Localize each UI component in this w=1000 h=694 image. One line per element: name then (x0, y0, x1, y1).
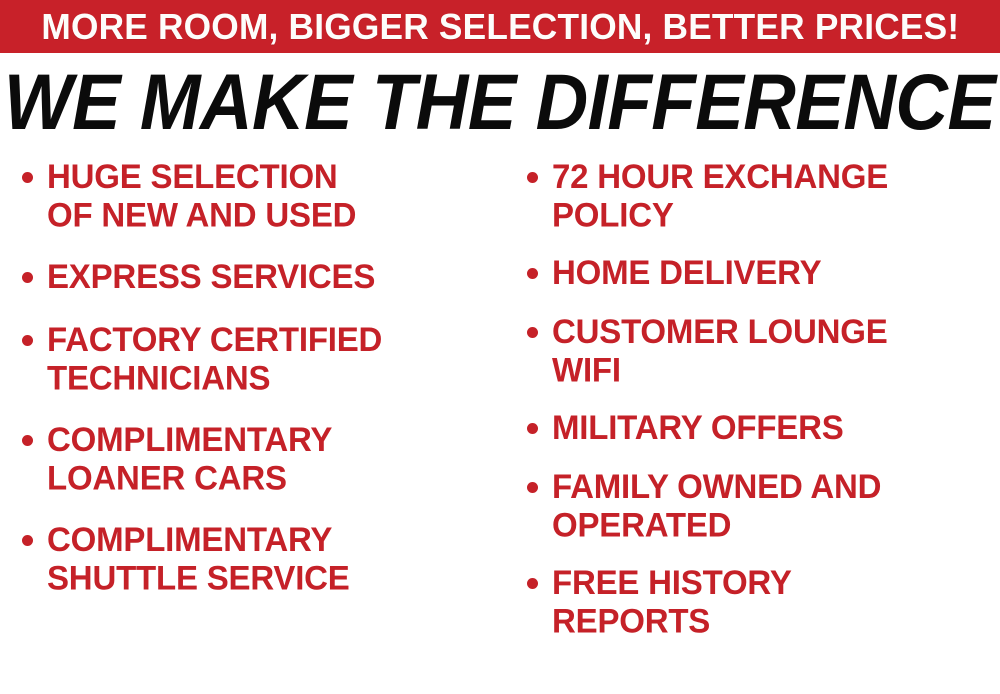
list-item-label: FAMILY OWNED AND OPERATED (552, 468, 881, 545)
list-item: FAMILY OWNED AND OPERATED (527, 468, 996, 542)
features-column-right: 72 HOUR EXCHANGE POLICY HOME DELIVERY CU… (505, 158, 1000, 694)
bullet-dot-icon (527, 423, 538, 434)
list-item: COMPLIMENTARY SHUTTLE SERVICE (22, 521, 499, 595)
list-item-label: FREE HISTORY REPORTS (552, 564, 792, 641)
list-item: FREE HISTORY REPORTS (527, 564, 996, 638)
headline-container: WE MAKE THE DIFFERENCE (0, 62, 1000, 142)
list-item-label: COMPLIMENTARY LOANER CARS (47, 421, 332, 498)
list-item-label: MILITARY OFFERS (552, 409, 844, 447)
bullet-dot-icon (527, 172, 538, 183)
list-item: HOME DELIVERY (527, 254, 996, 291)
list-item: EXPRESS SERVICES (22, 258, 499, 295)
bullet-dot-icon (527, 327, 538, 338)
bullet-dot-icon (22, 335, 33, 346)
list-item-label: HUGE SELECTION OF NEW AND USED (47, 158, 356, 235)
promo-banner-text: MORE ROOM, BIGGER SELECTION, BETTER PRIC… (41, 9, 959, 45)
bullet-dot-icon (527, 268, 538, 279)
list-item-label: FACTORY CERTIFIED TECHNICIANS (47, 321, 382, 398)
bullet-dot-icon (22, 272, 33, 283)
list-item-label: CUSTOMER LOUNGE WIFI (552, 313, 888, 390)
list-item-label: HOME DELIVERY (552, 254, 821, 292)
list-item-label: 72 HOUR EXCHANGE POLICY (552, 158, 888, 235)
list-item: MILITARY OFFERS (527, 409, 996, 446)
bullet-dot-icon (22, 435, 33, 446)
list-item: CUSTOMER LOUNGE WIFI (527, 313, 996, 387)
bullet-dot-icon (22, 172, 33, 183)
features-column-left: HUGE SELECTION OF NEW AND USED EXPRESS S… (0, 158, 505, 694)
promo-banner: MORE ROOM, BIGGER SELECTION, BETTER PRIC… (0, 0, 1000, 53)
bullet-dot-icon (22, 535, 33, 546)
list-item: HUGE SELECTION OF NEW AND USED (22, 158, 499, 232)
list-item-label: EXPRESS SERVICES (47, 258, 375, 296)
list-item: 72 HOUR EXCHANGE POLICY (527, 158, 996, 232)
page-title: WE MAKE THE DIFFERENCE (4, 63, 996, 141)
bullet-dot-icon (527, 482, 538, 493)
features-columns: HUGE SELECTION OF NEW AND USED EXPRESS S… (0, 158, 1000, 694)
list-item: COMPLIMENTARY LOANER CARS (22, 421, 499, 495)
list-item: FACTORY CERTIFIED TECHNICIANS (22, 321, 499, 395)
list-item-label: COMPLIMENTARY SHUTTLE SERVICE (47, 521, 350, 598)
bullet-dot-icon (527, 578, 538, 589)
